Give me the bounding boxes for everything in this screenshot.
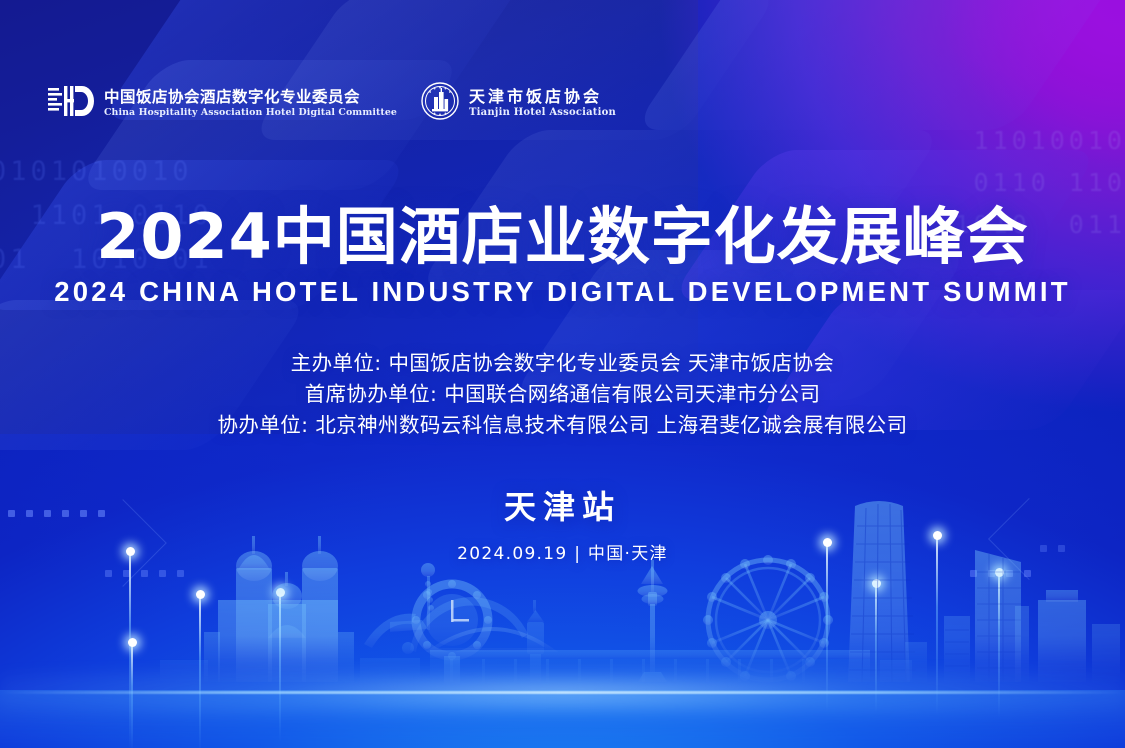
organizer-block: 主办单位: 中国饭店协会数字化专业委员会 天津市饭店协会 首席协办单位: 中国联… (0, 348, 1125, 441)
main-title-en: 2024 CHINA HOTEL INDUSTRY DIGITAL DEVELO… (0, 276, 1125, 308)
conference-poster: 0101010010 1101 0110 01 1010 01 11010010… (0, 0, 1125, 748)
cha-hd-monogram-logo-icon (48, 84, 94, 123)
station-name: 天津站 (0, 482, 1125, 528)
organizer-line-chief-cohost: 首席协办单位: 中国联合网络通信有限公司天津市分公司 (0, 379, 1125, 410)
tianjin-hotel-association-seal-logo-icon (421, 82, 459, 125)
logo-tianjin-hotel-association-text: 天津市饭店协会 Tianjin Hotel Association (469, 88, 616, 119)
logo-china-hospitality-association: 中国饭店协会酒店数字化专业委员会 China Hospitality Assoc… (48, 84, 397, 123)
logo-cha-name-cn: 中国饭店协会酒店数字化专业委员会 (104, 89, 397, 107)
ground-floor-gradient (0, 690, 1125, 748)
logo-tha-name-cn: 天津市饭店协会 (469, 88, 616, 106)
sponsor-logo-bar: 中国饭店协会酒店数字化专业委员会 China Hospitality Assoc… (48, 82, 616, 125)
station-date-location: 2024.09.19 | 中国·天津 (0, 539, 1125, 564)
logo-tianjin-hotel-association: 天津市饭店协会 Tianjin Hotel Association (421, 82, 616, 125)
logo-tha-name-en: Tianjin Hotel Association (469, 107, 616, 119)
main-title-cn: 2024中国酒店业数字化发展峰会 (0, 205, 1125, 269)
title-block: 2024中国酒店业数字化发展峰会 2024 CHINA HOTEL INDUST… (0, 205, 1125, 308)
logo-china-hospitality-association-text: 中国饭店协会酒店数字化专业委员会 China Hospitality Assoc… (104, 89, 397, 119)
organizer-line-cohost: 协办单位: 北京神州数码云科信息技术有限公司 上海君斐亿诚会展有限公司 (0, 410, 1125, 441)
station-block: 天津站 2024.09.19 | 中国·天津 (0, 482, 1125, 564)
organizer-line-host: 主办单位: 中国饭店协会数字化专业委员会 天津市饭店协会 (0, 348, 1125, 379)
logo-cha-name-en: China Hospitality Association Hotel Digi… (104, 108, 397, 119)
